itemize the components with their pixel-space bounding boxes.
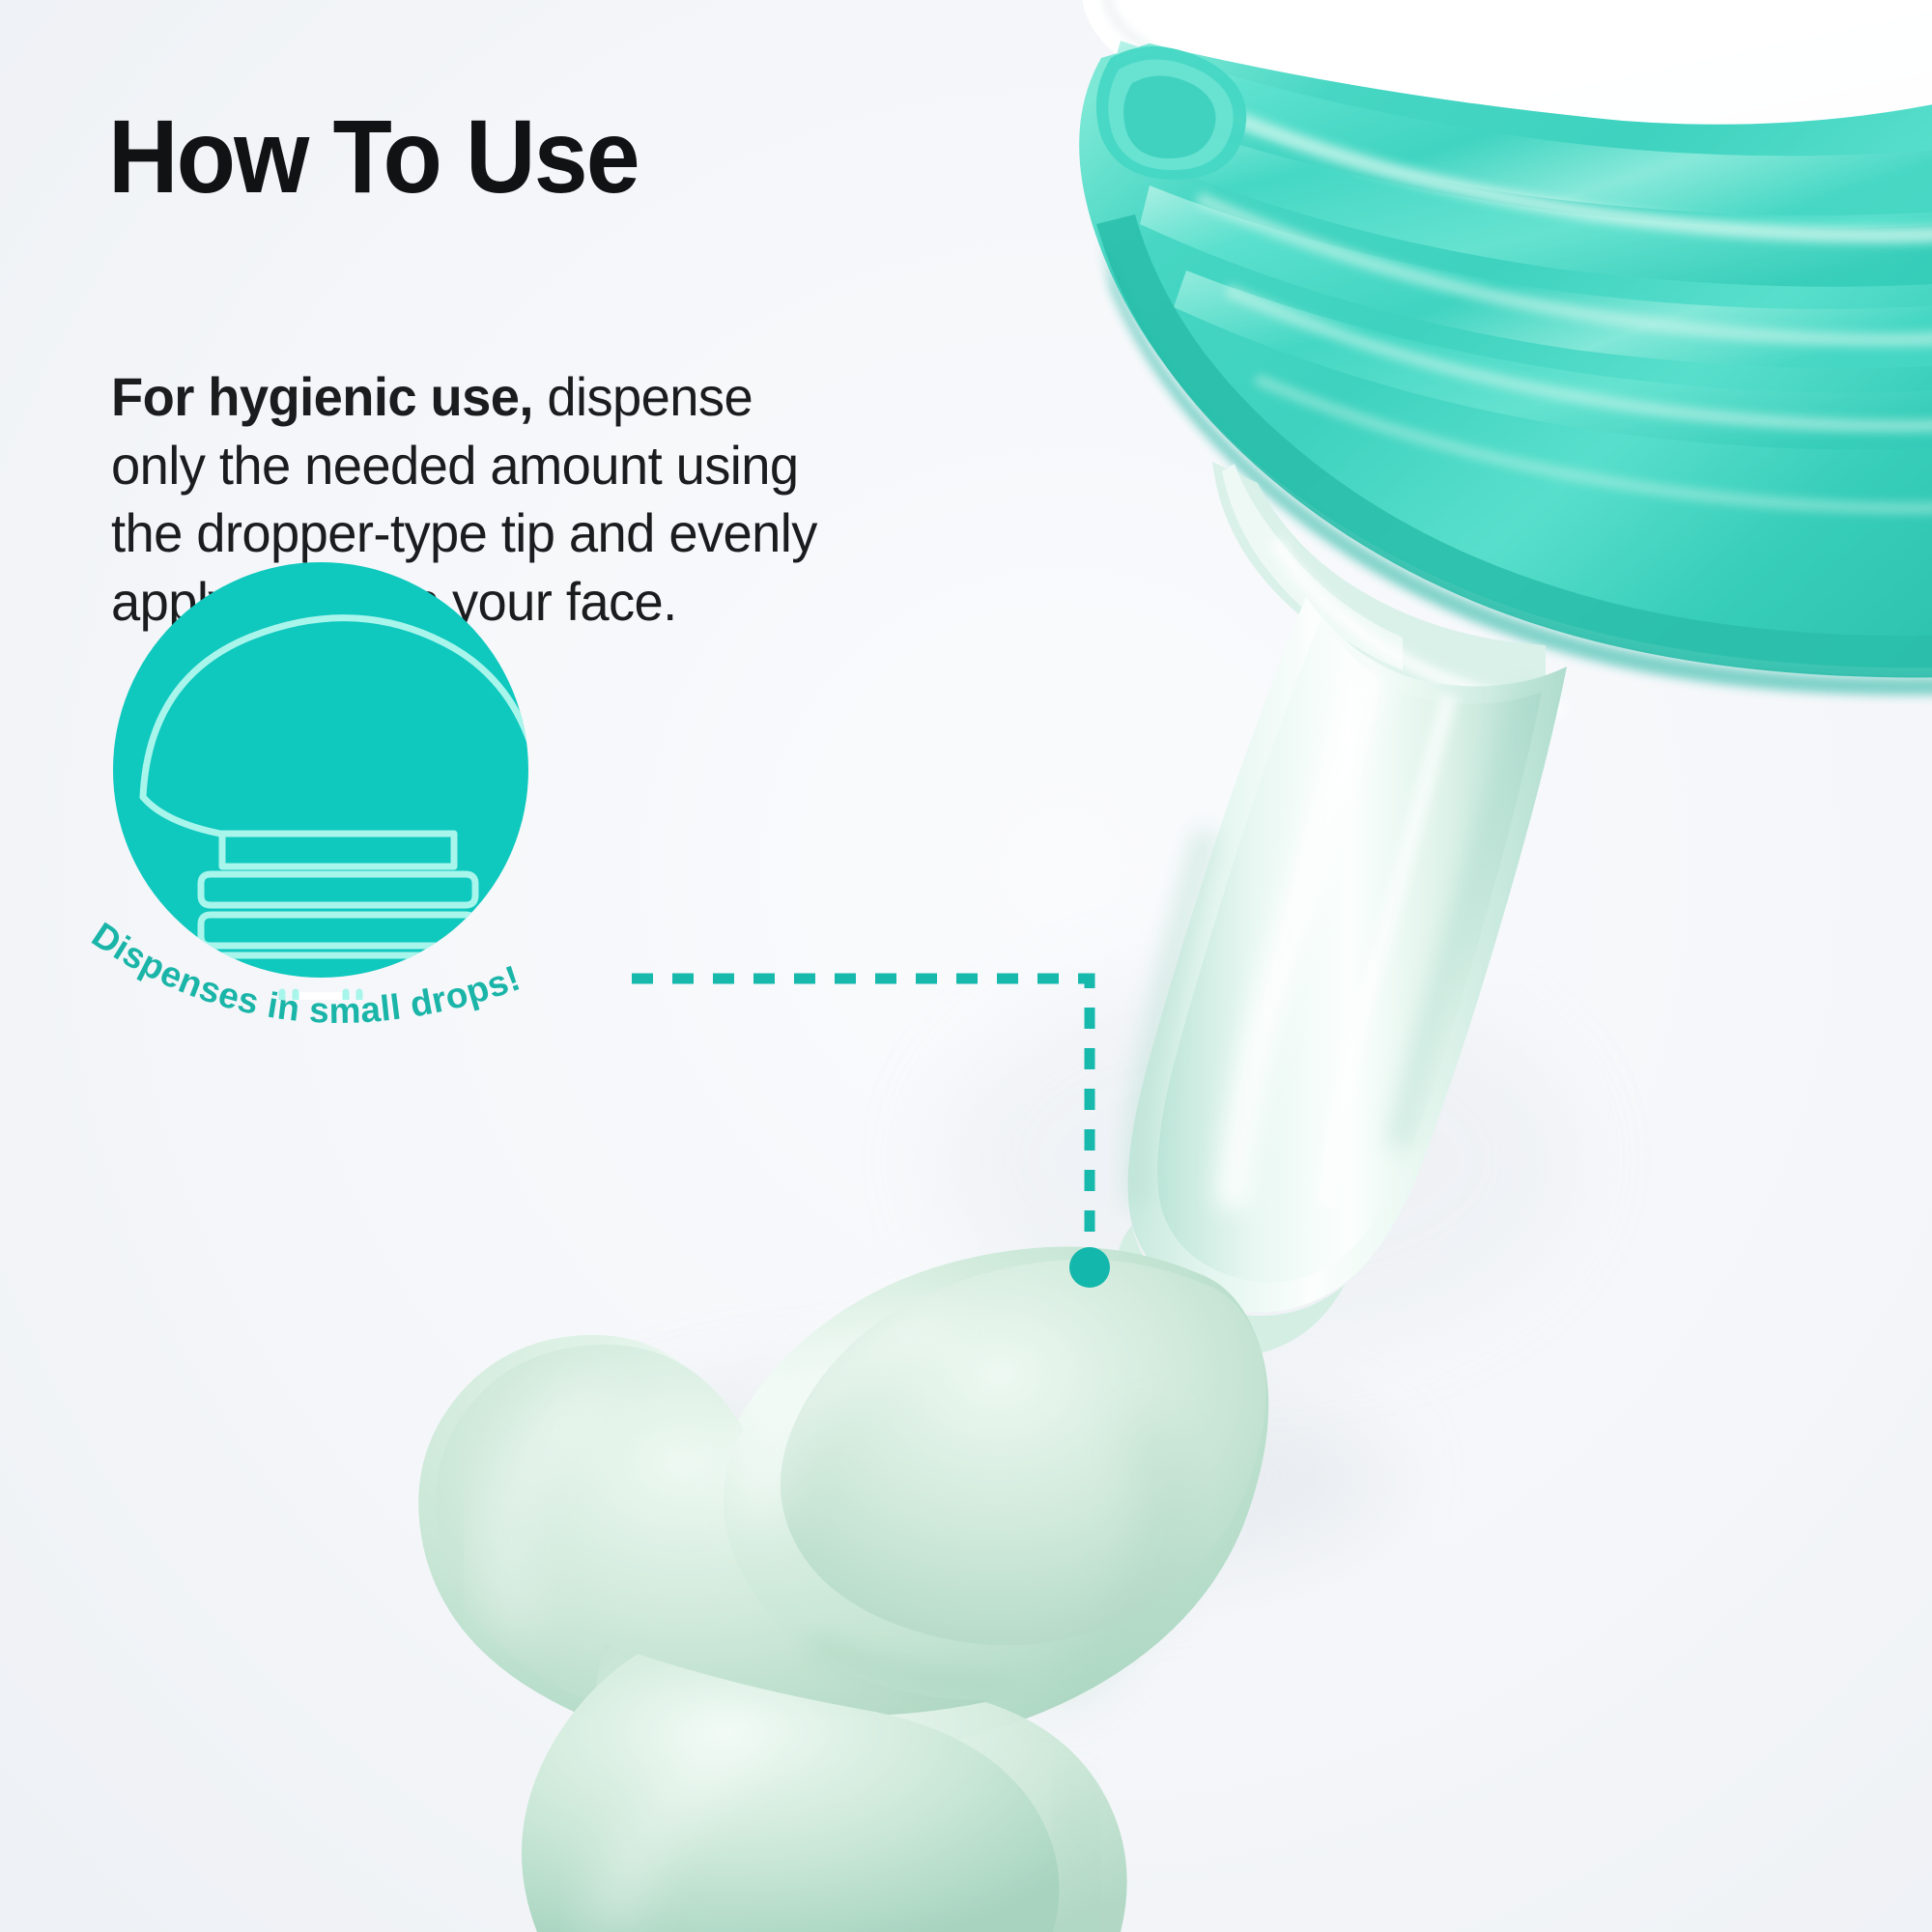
badge-caption: Dispenses in small drops! [68,908,570,1082]
svg-text:Dispenses in small drops!: Dispenses in small drops! [85,915,526,1031]
callout-connector [628,927,1150,1314]
connector-dashed-line [632,979,1090,1256]
page-title: How To Use [108,104,639,209]
connector-endpoint-dot [1069,1247,1110,1288]
instruction-lead-bold: For hygienic use, [111,366,533,427]
badge-caption-text: Dispenses in small drops! [85,915,526,1031]
infographic-canvas: How To Use For hygienic use, dispense on… [0,0,1932,1932]
